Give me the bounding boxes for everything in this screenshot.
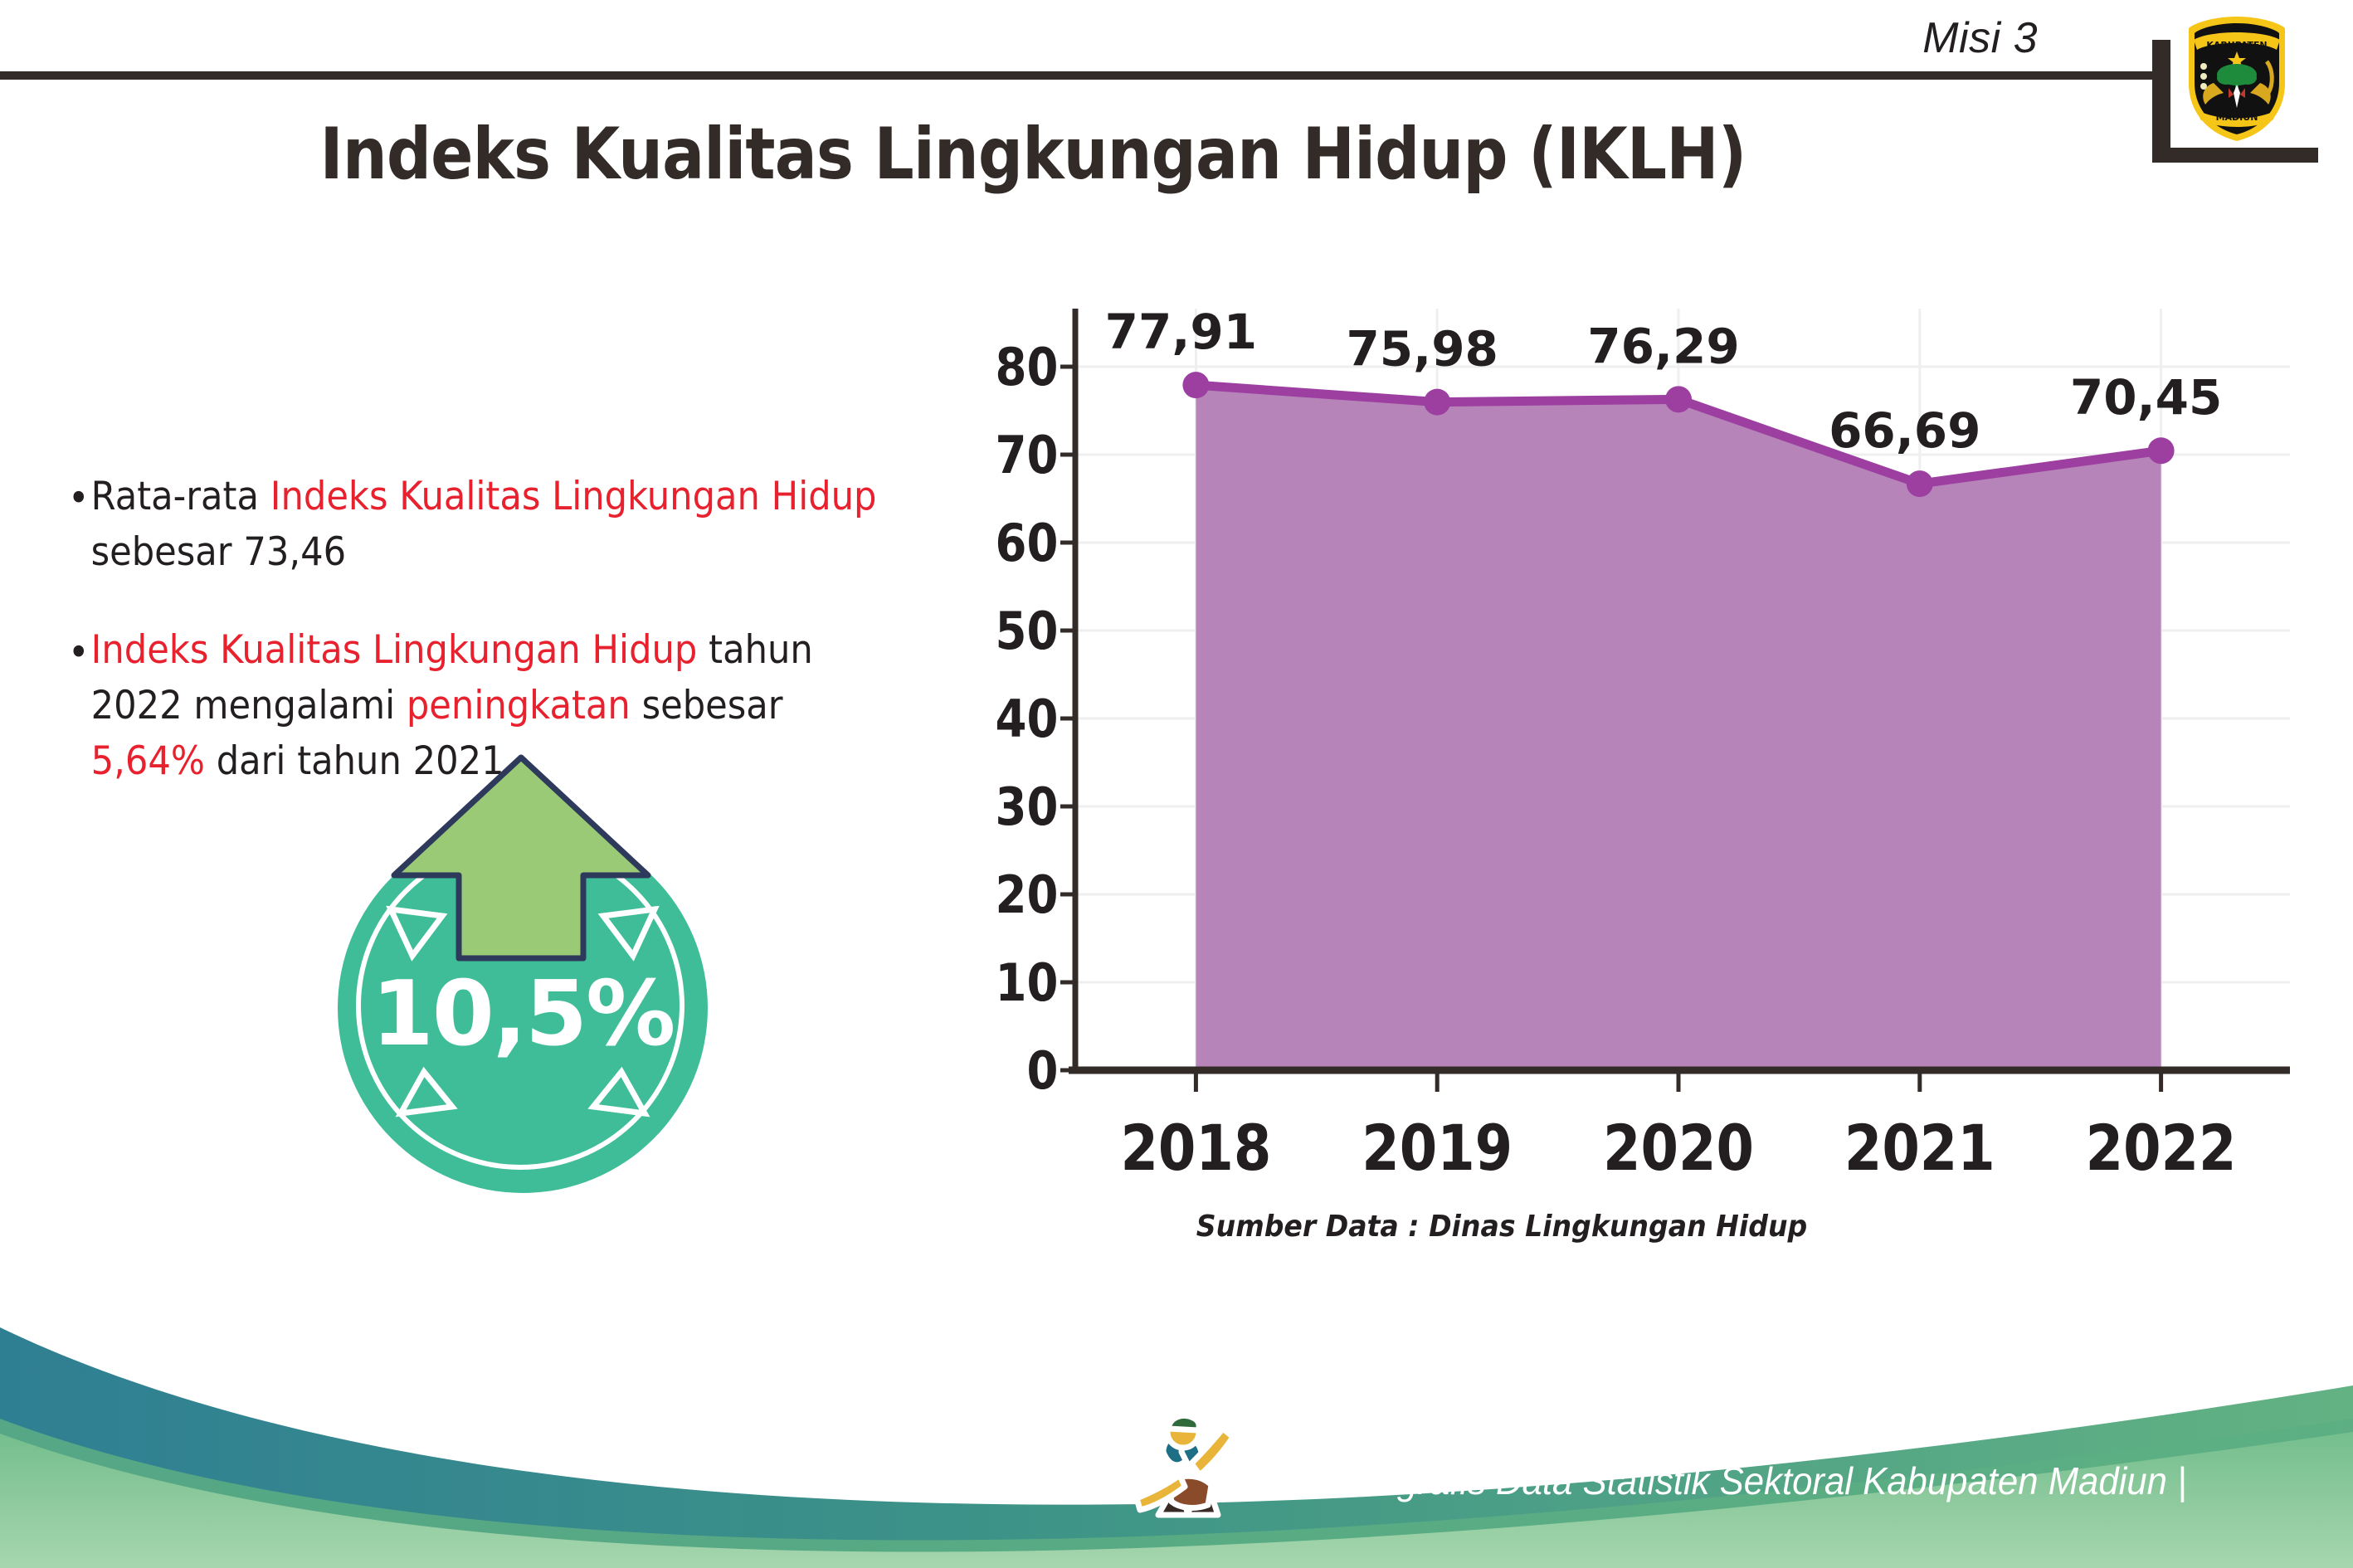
bullet-glyph: • <box>68 471 90 527</box>
x-axis-tick-label: 2020 <box>1603 1111 1754 1185</box>
header-bracket-foot <box>2152 148 2318 163</box>
iklh-area-chart: 77,9175,9876,2966,6970,45010203040506070… <box>954 274 2331 1303</box>
dancer-figure-logo-icon <box>1135 1409 1243 1535</box>
bullet-segment-highlight: Indeks Kualitas Lingkungan Hidup <box>91 627 698 673</box>
data-point-marker <box>1182 372 1209 398</box>
source-note: Sumber Data : Dinas Lingkungan Hidup <box>1006 1210 1998 1244</box>
bullet-segment: Rata-rata <box>91 474 270 519</box>
footer-caption: Media Infografis Data Statistik Sektoral… <box>1228 1458 2253 1503</box>
y-axis-tick-label: 70 <box>996 426 1059 485</box>
y-axis-tick-label: 30 <box>996 777 1059 837</box>
header-bracket-vertical <box>2152 40 2170 163</box>
y-axis-tick-label: 60 <box>996 514 1059 573</box>
data-point-marker <box>2148 437 2175 464</box>
data-point-marker <box>1424 389 1450 416</box>
data-label: 76,29 <box>1587 318 1739 374</box>
area-fill <box>1196 385 2161 1070</box>
x-axis-tick-label: 2021 <box>1844 1111 1995 1185</box>
data-label: 75,98 <box>1346 321 1498 377</box>
misi-label: Misi 3 <box>1689 13 2038 63</box>
infographic-slide: Misi 3 KABUPATEN MADIUN <box>0 0 2353 1568</box>
data-label: 66,69 <box>1829 402 1980 459</box>
data-point-marker <box>1665 386 1692 412</box>
list-item: •Rata-rata Indeks Kualitas Lingkungan Hi… <box>68 470 877 580</box>
bullet-segment: sebesar <box>631 683 783 728</box>
y-axis-tick-label: 0 <box>1026 1041 1058 1101</box>
y-axis-tick-label: 80 <box>996 338 1059 397</box>
header-rule <box>0 71 2159 80</box>
y-axis-tick-label: 20 <box>996 865 1059 925</box>
bullet-segment: sebesar 73,46 <box>91 529 347 575</box>
data-label: 70,45 <box>2070 369 2222 426</box>
svg-text:MADIUN: MADIUN <box>2216 112 2258 123</box>
chart-canvas: 77,9175,9876,2966,6970,45010203040506070… <box>954 274 2331 1303</box>
page-title: Indeks Kualitas Lingkungan Hidup (IKLH) <box>124 113 1941 196</box>
x-axis-tick-label: 2018 <box>1120 1111 1271 1185</box>
bullet-glyph: • <box>68 626 90 681</box>
bullet-segment-highlight: Indeks Kualitas Lingkungan Hidup <box>270 474 877 519</box>
y-axis-tick-label: 10 <box>996 953 1059 1013</box>
badge-percentage-value: 10,5% <box>338 962 708 1066</box>
data-label: 77,91 <box>1105 304 1257 360</box>
svg-text:KABUPATEN: KABUPATEN <box>2206 40 2267 51</box>
kabupaten-madiun-crest-icon: KABUPATEN MADIUN <box>2180 12 2293 144</box>
footer-banner: Media Infografis Data Statistik Sektoral… <box>0 1294 2353 1568</box>
y-axis-tick-label: 50 <box>996 601 1059 661</box>
bullet-segment-highlight: peningkatan <box>407 683 631 728</box>
x-axis-tick-label: 2019 <box>1362 1111 1513 1185</box>
increase-badge: 10,5% <box>319 751 751 1199</box>
y-axis-tick-label: 40 <box>996 689 1059 749</box>
x-axis-tick-label: 2022 <box>2086 1111 2237 1185</box>
data-point-marker <box>1907 470 1933 497</box>
bullet-segment-highlight: 5,64% <box>91 738 205 784</box>
